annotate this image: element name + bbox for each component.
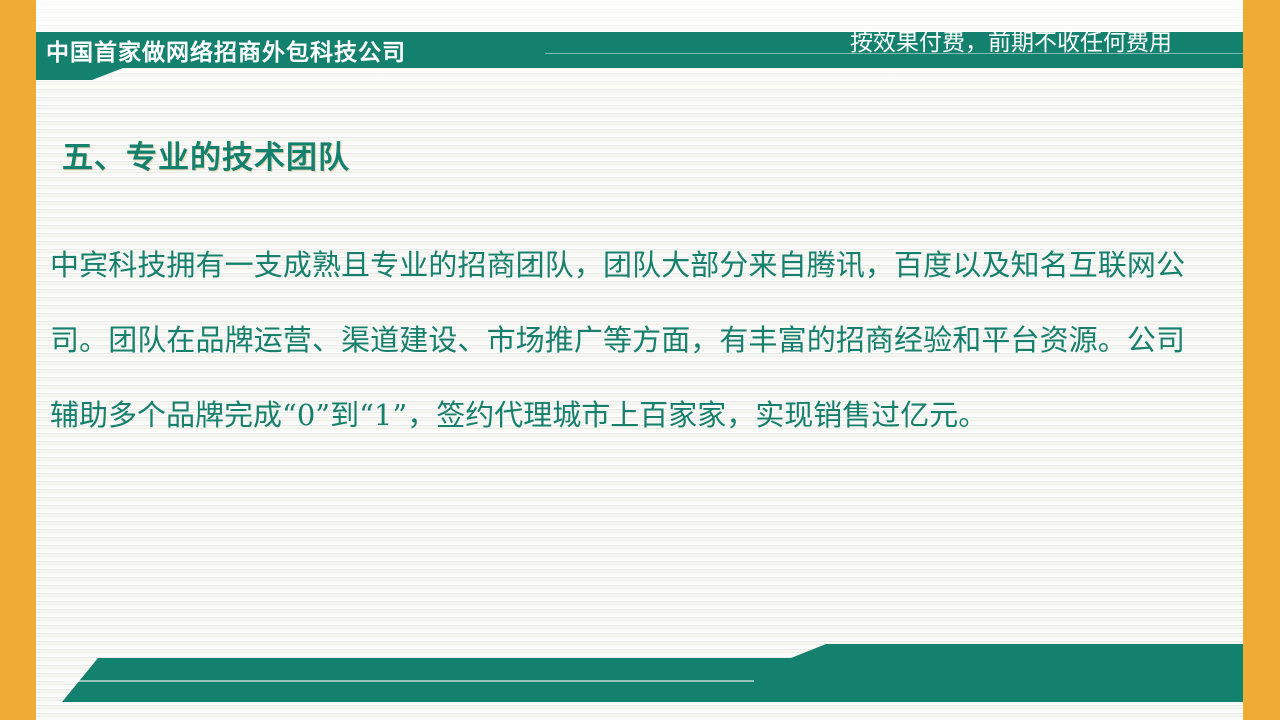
footer-bar-upper xyxy=(736,644,1243,702)
footer-ribbon xyxy=(36,630,1243,720)
section-body-paragraph: 中宾科技拥有一支成熟且专业的招商团队，团队大部分来自腾讯，百度以及知名互联网公司… xyxy=(50,228,1185,453)
header-title: 中国首家做网络招商外包科技公司 xyxy=(46,36,406,70)
presentation-slide: 中国首家做网络招商外包科技公司 五、专业的技术团队 中宾科技拥有一支成熟且专业的… xyxy=(0,0,1280,720)
section-heading: 五、专业的技术团队 xyxy=(62,132,350,177)
footer-slogan: 按效果付费，前期不收任何费用 xyxy=(850,24,1172,62)
footer-hairline-divider xyxy=(64,680,754,682)
